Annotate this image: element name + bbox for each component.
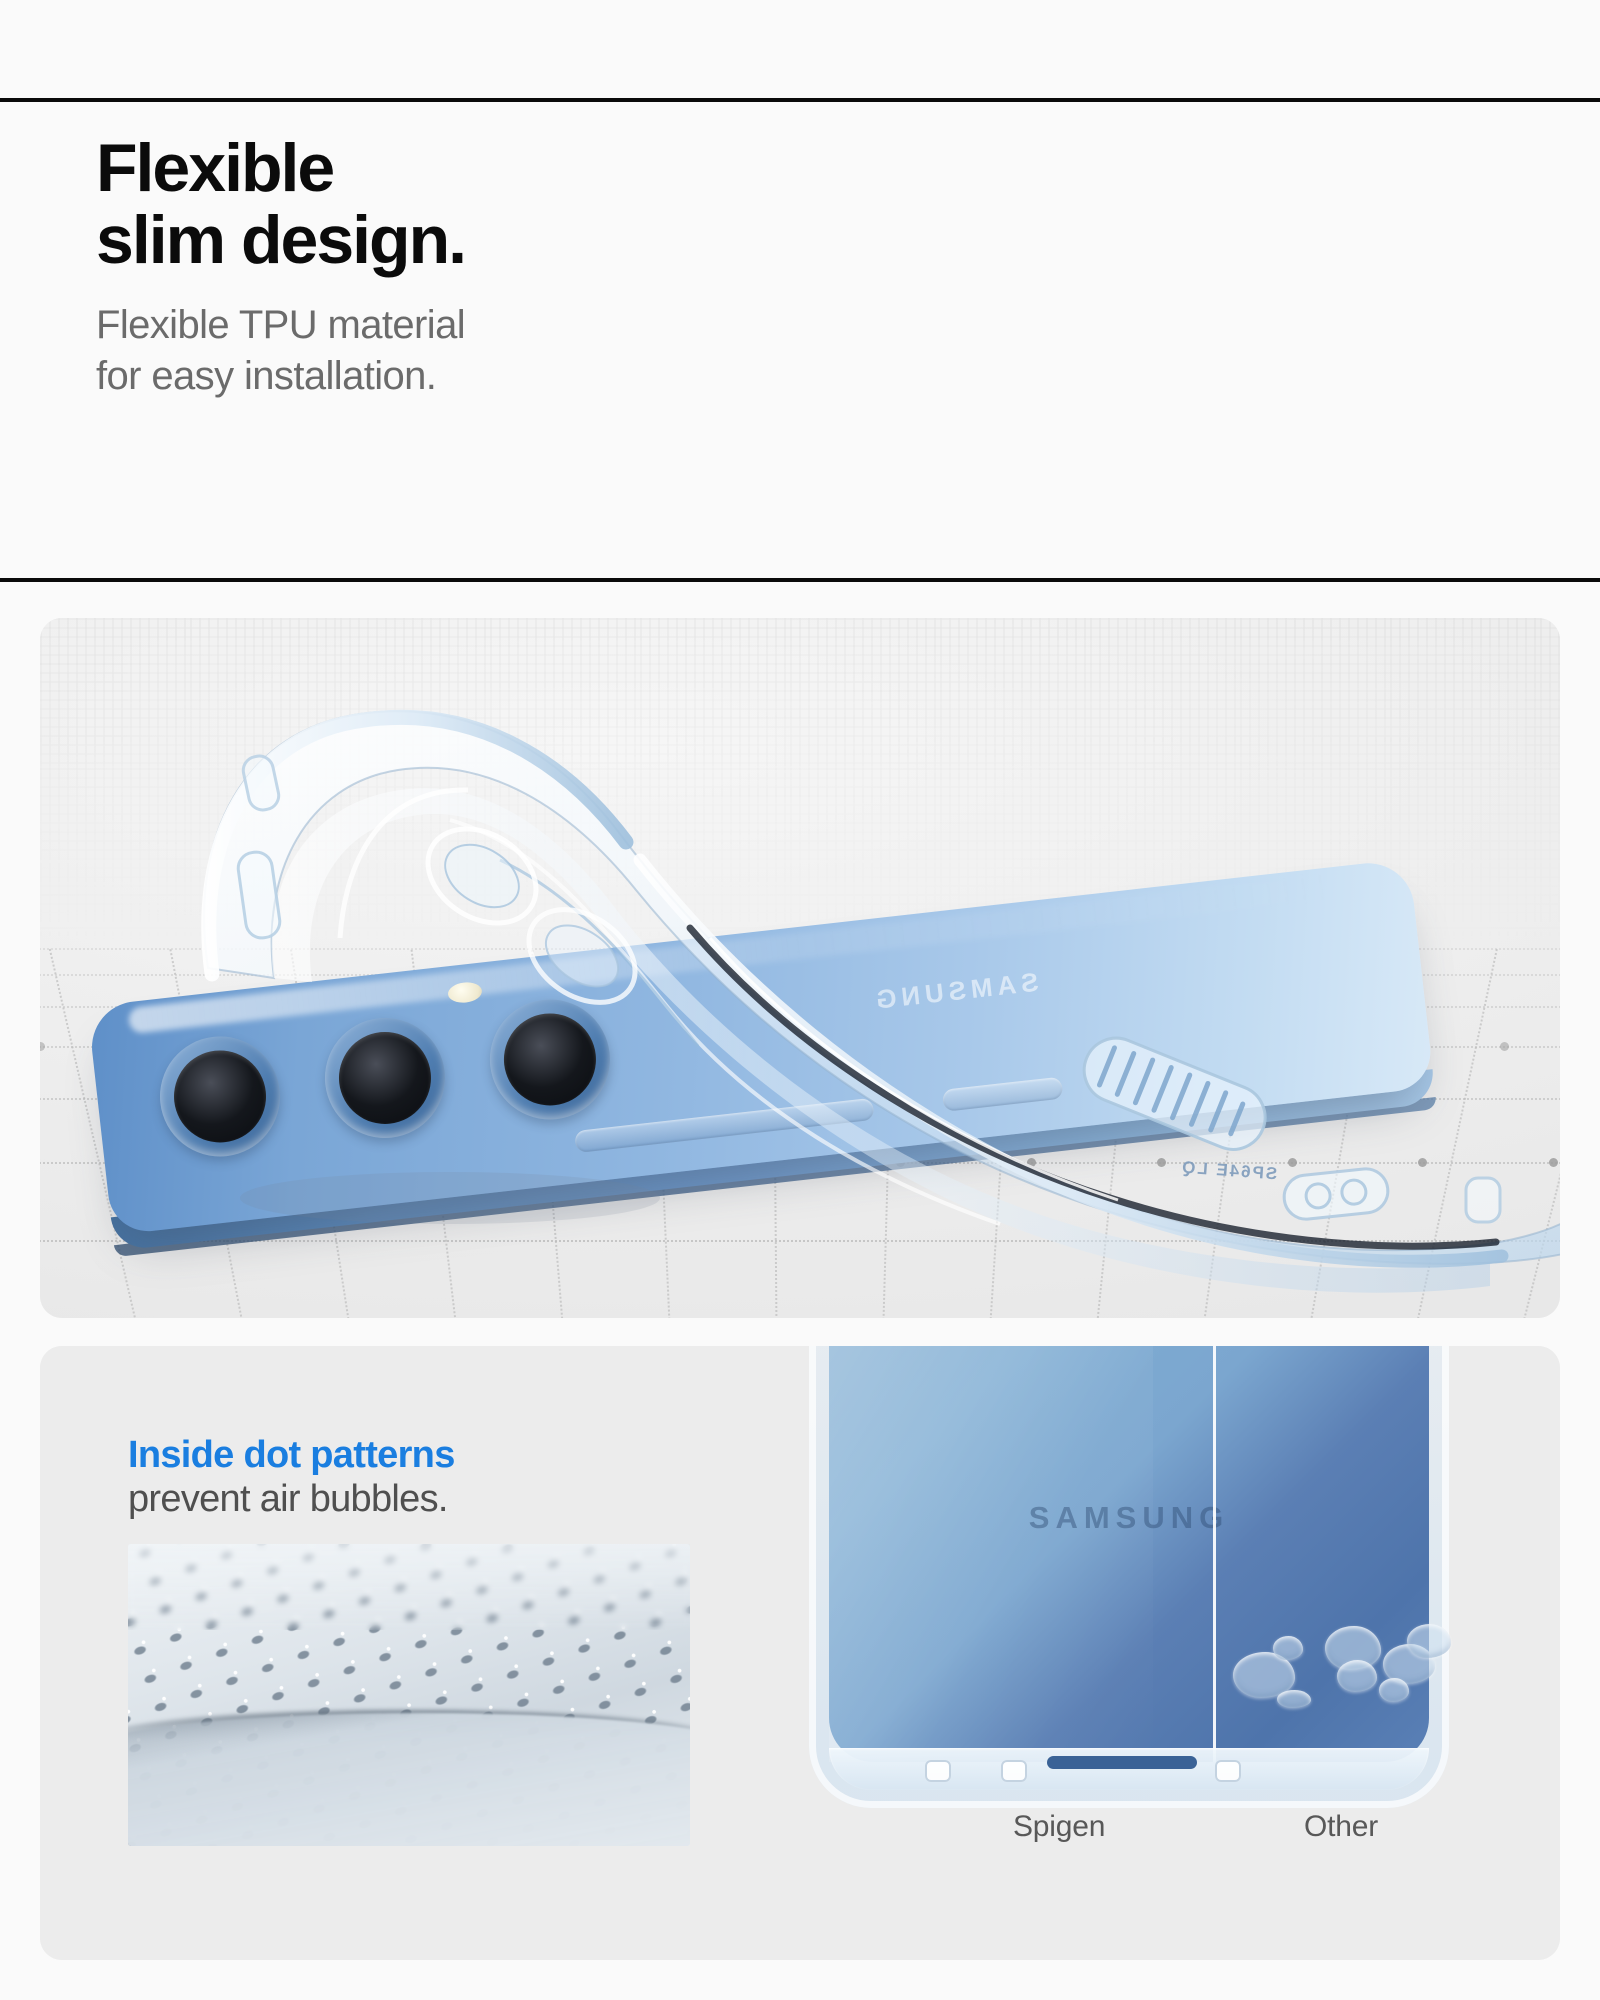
page-subtitle: Flexible TPU material for easy installat…: [96, 300, 996, 402]
frame-cutout-left: [925, 1760, 951, 1782]
page-title-line-2: slim design.: [96, 204, 996, 276]
comparison-phone-back: SAMSUNG: [829, 1346, 1429, 1762]
dot-pattern-panel: Inside dot patterns prevent air bubbles.…: [40, 1346, 1560, 1960]
dot-pattern-left-column: Inside dot patterns prevent air bubbles.: [40, 1346, 785, 1960]
page-subtitle-line-2: for easy installation.: [96, 351, 996, 402]
dot-photo-sheen: [128, 1713, 690, 1846]
page-title: Flexible slim design.: [96, 132, 996, 276]
header-text-block: Flexible slim design. Flexible TPU mater…: [96, 132, 996, 403]
page-title-line-1: Flexible: [96, 130, 333, 206]
air-bubble: [1407, 1624, 1451, 1658]
dot-pattern-photo: [128, 1544, 690, 1846]
spigen-vs-other-comparison: SAMSUNG: [785, 1346, 1560, 1848]
comparison-column: SAMSUNG: [785, 1346, 1560, 1960]
charging-port-cutout: [1047, 1756, 1197, 1769]
product-feature-page: Flexible slim design. Flexible TPU mater…: [0, 0, 1600, 2000]
comparison-label-other: Other: [1304, 1810, 1378, 1844]
divider-bottom: [0, 578, 1600, 582]
air-bubble: [1277, 1690, 1311, 1708]
air-bubble: [1273, 1636, 1303, 1660]
divider-top: [0, 98, 1600, 102]
floor-grid-line-v: [40, 948, 45, 1318]
comparison-bottom-frame: [829, 1748, 1429, 1790]
air-bubble: [1337, 1660, 1377, 1692]
comparison-split-line: [1213, 1346, 1216, 1762]
frame-cutout-mid: [1001, 1760, 1027, 1782]
clear-tpu-case: SP64E LQ: [150, 638, 1560, 1258]
floor-grid-node: [40, 1042, 45, 1051]
feature-subtitle: prevent air bubbles.: [128, 1477, 728, 1522]
comparison-label-spigen: Spigen: [1013, 1810, 1105, 1844]
air-bubble: [1379, 1678, 1409, 1702]
feature-heading-block: Inside dot patterns prevent air bubbles.: [128, 1434, 728, 1521]
page-subtitle-line-1: Flexible TPU material: [96, 303, 465, 347]
hero-image-panel: SAMSUNG: [40, 618, 1560, 1318]
air-bubble-cluster: [1233, 1624, 1463, 1744]
comparison-brand-mark: SAMSUNG: [1029, 1500, 1229, 1536]
comparison-gleam: [829, 1346, 1153, 1762]
frame-cutout-right: [1215, 1760, 1241, 1782]
feature-title: Inside dot patterns: [128, 1434, 728, 1477]
dot-photo-depth-blur: [128, 1544, 690, 1630]
